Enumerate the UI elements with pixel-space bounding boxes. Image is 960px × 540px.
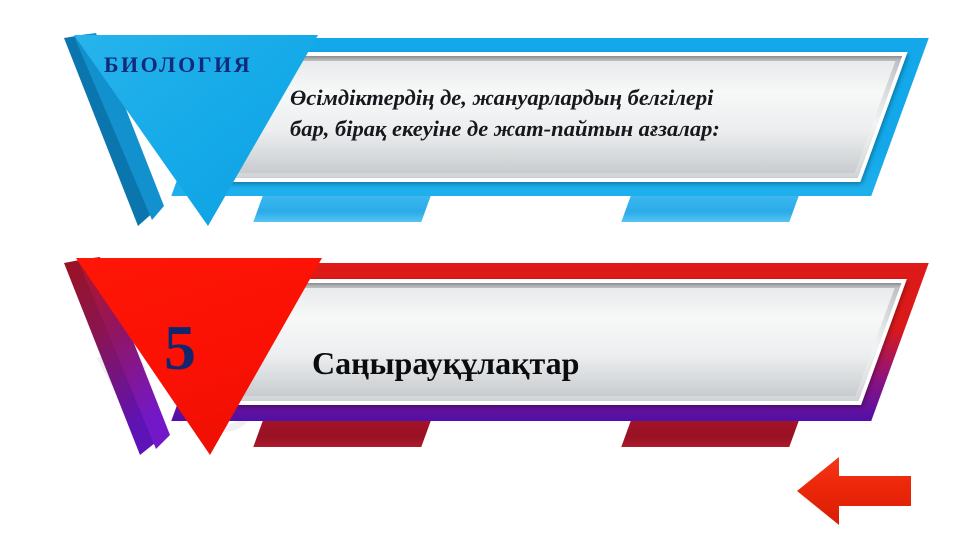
answer-banner: 5 Саңырауқұлақтар xyxy=(0,225,960,455)
answer-title-label: Саңырауқұлақтар xyxy=(312,344,579,382)
banner-tab xyxy=(621,421,798,447)
answer-triangle xyxy=(60,253,332,458)
banner-tab xyxy=(621,196,798,222)
header-banner: БИОЛОГИЯ Өсімдіктердің де, жануарлардың … xyxy=(0,0,960,230)
header-body-text: Өсімдіктердің де, жануарлардың белгілері… xyxy=(290,82,850,144)
step-number-label: 5 xyxy=(164,316,196,380)
slide-canvas: PNGtree PNGtree PNGtree PNGtree xyxy=(0,0,960,540)
back-arrow-icon[interactable] xyxy=(795,455,915,527)
header-kicker-label: БИОЛОГИЯ xyxy=(104,52,252,78)
